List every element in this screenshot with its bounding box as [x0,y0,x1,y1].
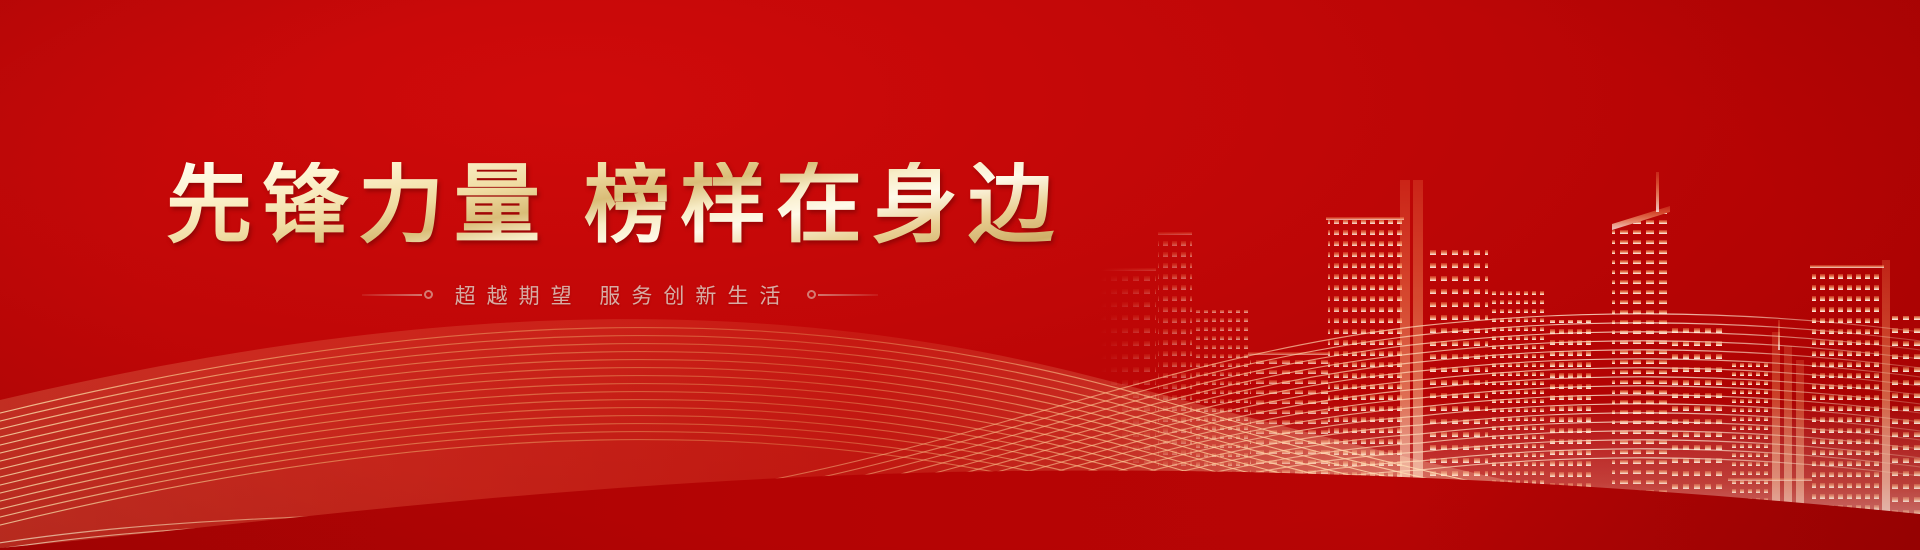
ornament-circle-right [807,290,816,299]
banner-title: 先锋力量 榜样在身边 [166,162,1074,250]
banner-subtitle: 超越期望 服务创新生活 [449,280,792,310]
line-circle-ornament-right-icon [805,290,878,299]
ornament-circle-left [424,290,433,299]
banner-content: 先锋力量 榜样在身边 超越期望 服务创新生活 [0,0,1240,550]
line-circle-ornament-left-icon [362,290,435,299]
promotional-banner: 先锋力量 榜样在身边 超越期望 服务创新生活 [0,0,1920,550]
ornament-line-right [818,294,878,296]
ornament-line-left [362,294,422,296]
banner-subtitle-row: 超越期望 服务创新生活 [362,280,879,310]
